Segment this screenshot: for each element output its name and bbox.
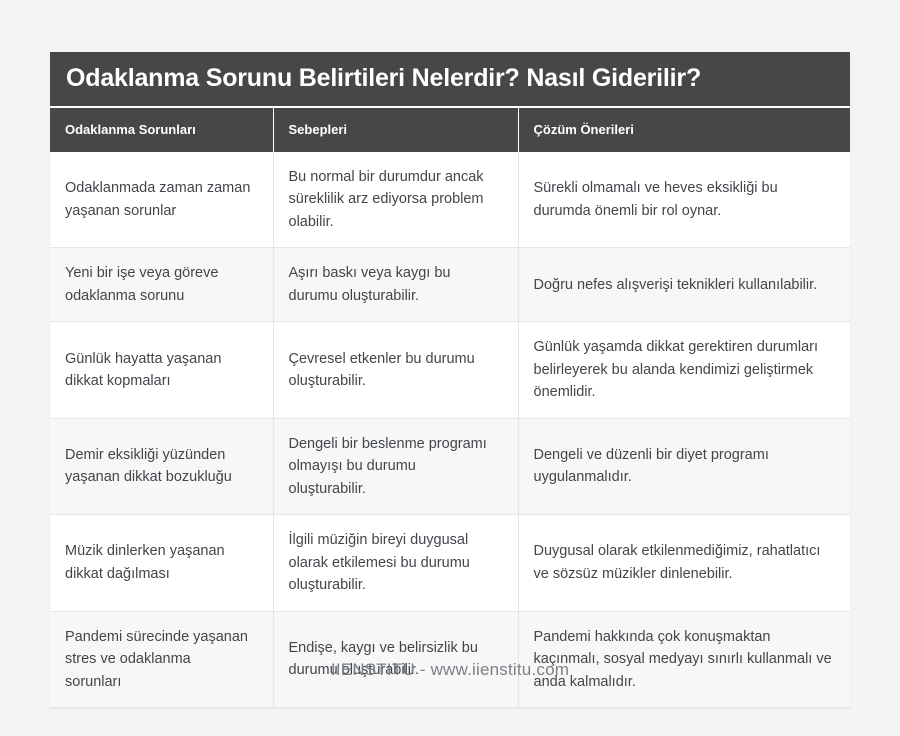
cell-sebep: Dengeli bir beslenme programı olmayışı b… xyxy=(273,418,518,514)
page-title: Odaklanma Sorunu Belirtileri Nelerdir? N… xyxy=(66,65,701,93)
column-header-sorunlar: Odaklanma Sorunları xyxy=(50,107,273,152)
table-row: Odaklanmada zaman zaman yaşanan sorunlar… xyxy=(50,152,850,248)
cell-sorun: Odaklanmada zaman zaman yaşanan sorunlar xyxy=(50,152,273,248)
cell-cozum: Dengeli ve düzenli bir diyet programı uy… xyxy=(518,418,850,514)
table-header-row: Odaklanma Sorunları Sebepleri Çözüm Öner… xyxy=(50,107,850,152)
cell-sebep: Çevresel etkenler bu durumu oluşturabili… xyxy=(273,322,518,418)
cell-sorun: Demir eksikliği yüzünden yaşanan dikkat … xyxy=(50,418,273,514)
cell-cozum: Doğru nefes alışverişi teknikleri kullan… xyxy=(518,248,850,322)
table-row: Demir eksikliği yüzünden yaşanan dikkat … xyxy=(50,418,850,514)
cell-cozum: Günlük yaşamda dikkat gerektiren durumla… xyxy=(518,322,850,418)
cell-cozum: Duygusal olarak etkilenmediğimiz, rahatl… xyxy=(518,515,850,611)
column-header-cozum-onerileri: Çözüm Önerileri xyxy=(518,107,850,152)
footer-attribution: IIENSTITU - www.iienstitu.com xyxy=(0,660,900,680)
table-row: Günlük hayatta yaşanan dikkat kopmaları … xyxy=(50,322,850,418)
cell-sebep: Aşırı baskı veya kaygı bu durumu oluştur… xyxy=(273,248,518,322)
table-body: Odaklanmada zaman zaman yaşanan sorunlar… xyxy=(50,152,850,707)
table-header: Odaklanma Sorunları Sebepleri Çözüm Öner… xyxy=(50,107,850,152)
title-bar: Odaklanma Sorunu Belirtileri Nelerdir? N… xyxy=(50,52,850,106)
column-header-sebepleri: Sebepleri xyxy=(273,107,518,152)
cell-sebep: İlgili müziğin bireyi duygusal olarak et… xyxy=(273,515,518,611)
table-row: Yeni bir işe veya göreve odaklanma sorun… xyxy=(50,248,850,322)
cell-sorun: Yeni bir işe veya göreve odaklanma sorun… xyxy=(50,248,273,322)
cell-cozum: Sürekli olmamalı ve heves eksikliği bu d… xyxy=(518,152,850,248)
focus-problems-table: Odaklanma Sorunları Sebepleri Çözüm Öner… xyxy=(50,106,850,708)
table-row: Müzik dinlerken yaşanan dikkat dağılması… xyxy=(50,515,850,611)
page-root: Odaklanma Sorunu Belirtileri Nelerdir? N… xyxy=(0,0,900,736)
table-card: Odaklanma Sorunu Belirtileri Nelerdir? N… xyxy=(50,52,850,708)
cell-sorun: Günlük hayatta yaşanan dikkat kopmaları xyxy=(50,322,273,418)
cell-sebep: Bu normal bir durumdur ancak süreklilik … xyxy=(273,152,518,248)
cell-sorun: Müzik dinlerken yaşanan dikkat dağılması xyxy=(50,515,273,611)
